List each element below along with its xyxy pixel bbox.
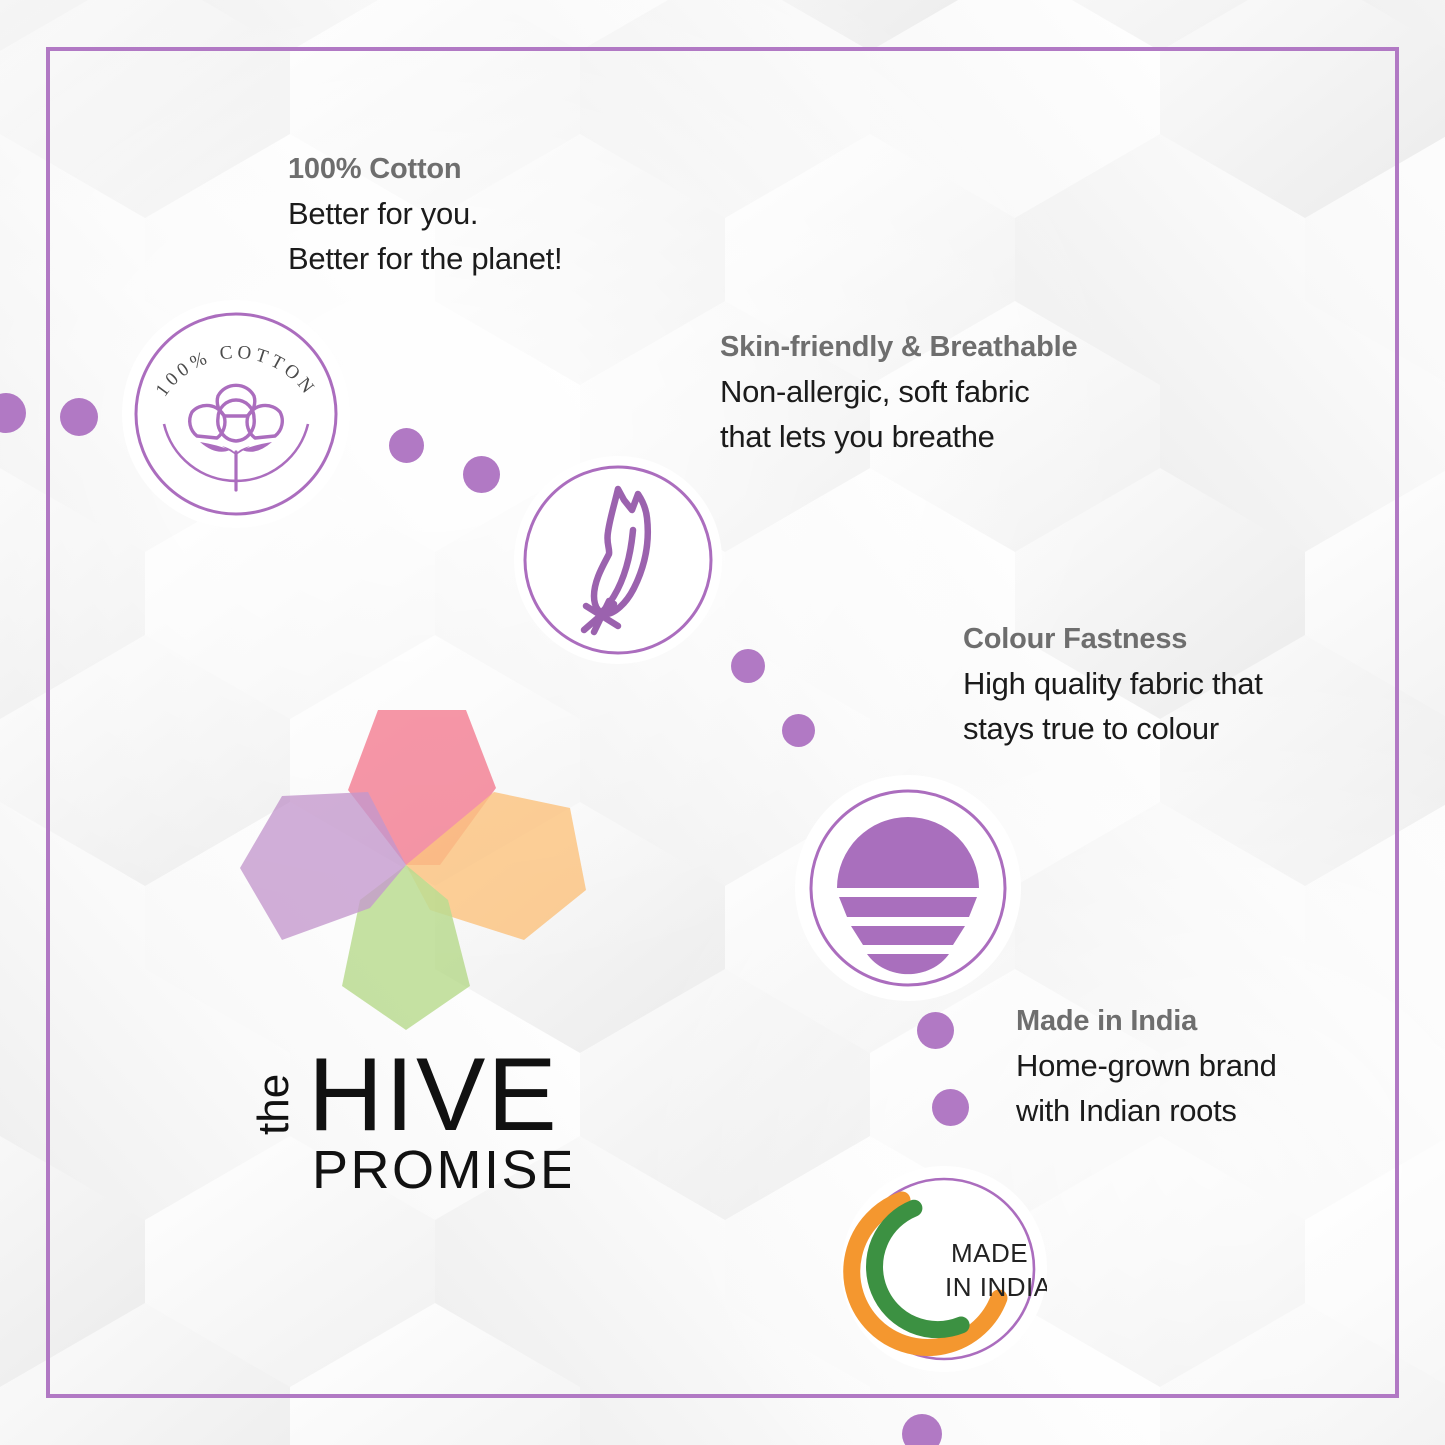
feature-line: that lets you breathe (720, 415, 1220, 460)
feature-heading-cotton: 100% Cotton (288, 152, 758, 186)
decorative-dot (463, 456, 500, 493)
made-in-india-badge-icon: MADE IN INDIA (841, 1166, 1047, 1372)
promise-infographic: 100% Cotton Better for you. Better for t… (0, 0, 1445, 1445)
feature-text-skin-friendly: Skin-friendly & Breathable Non-allergic,… (720, 330, 1220, 459)
decorative-dot (389, 428, 424, 463)
feature-line: Better for you. (288, 192, 758, 237)
sunset-colour-icon (795, 775, 1021, 1001)
brand-wordmark: the HIVE PROMISE (250, 1030, 570, 1195)
feature-heading-made-in-india: Made in India (1016, 1004, 1416, 1038)
feature-line: Home-grown brand (1016, 1044, 1416, 1089)
decorative-dot (731, 649, 765, 683)
feature-line: Better for the planet! (288, 237, 758, 282)
decorative-dot (917, 1012, 954, 1049)
feature-text-colour-fastness: Colour Fastness High quality fabric that… (963, 622, 1383, 751)
decorative-dot (932, 1089, 969, 1126)
cotton-badge-arc-label: 100% COTTON (152, 342, 321, 401)
wordmark-promise: PROMISE (312, 1140, 570, 1195)
made-in-india-label-line2: IN INDIA (945, 1272, 1047, 1302)
feature-text-made-in-india: Made in India Home-grown brand with Indi… (1016, 1004, 1416, 1133)
cotton-boll-badge-icon: 100% COTTON (122, 300, 350, 528)
feature-heading-colour-fastness: Colour Fastness (963, 622, 1383, 656)
feature-line: Non-allergic, soft fabric (720, 370, 1220, 415)
feather-icon (514, 456, 722, 664)
feature-heading-skin-friendly: Skin-friendly & Breathable (720, 330, 1220, 364)
made-in-india-label-line1: MADE (951, 1238, 1028, 1268)
wordmark-the: the (250, 1074, 298, 1135)
feature-line: stays true to colour (963, 707, 1383, 752)
decorative-dot (60, 398, 98, 436)
hive-hexagon-flower-logo (238, 700, 588, 1030)
feature-text-cotton: 100% Cotton Better for you. Better for t… (288, 152, 758, 281)
feature-line: with Indian roots (1016, 1089, 1416, 1134)
wordmark-hive: HIVE (308, 1037, 559, 1153)
svg-text:100% COTTON: 100% COTTON (152, 342, 321, 401)
decorative-dot (782, 714, 815, 747)
feature-line: High quality fabric that (963, 662, 1383, 707)
